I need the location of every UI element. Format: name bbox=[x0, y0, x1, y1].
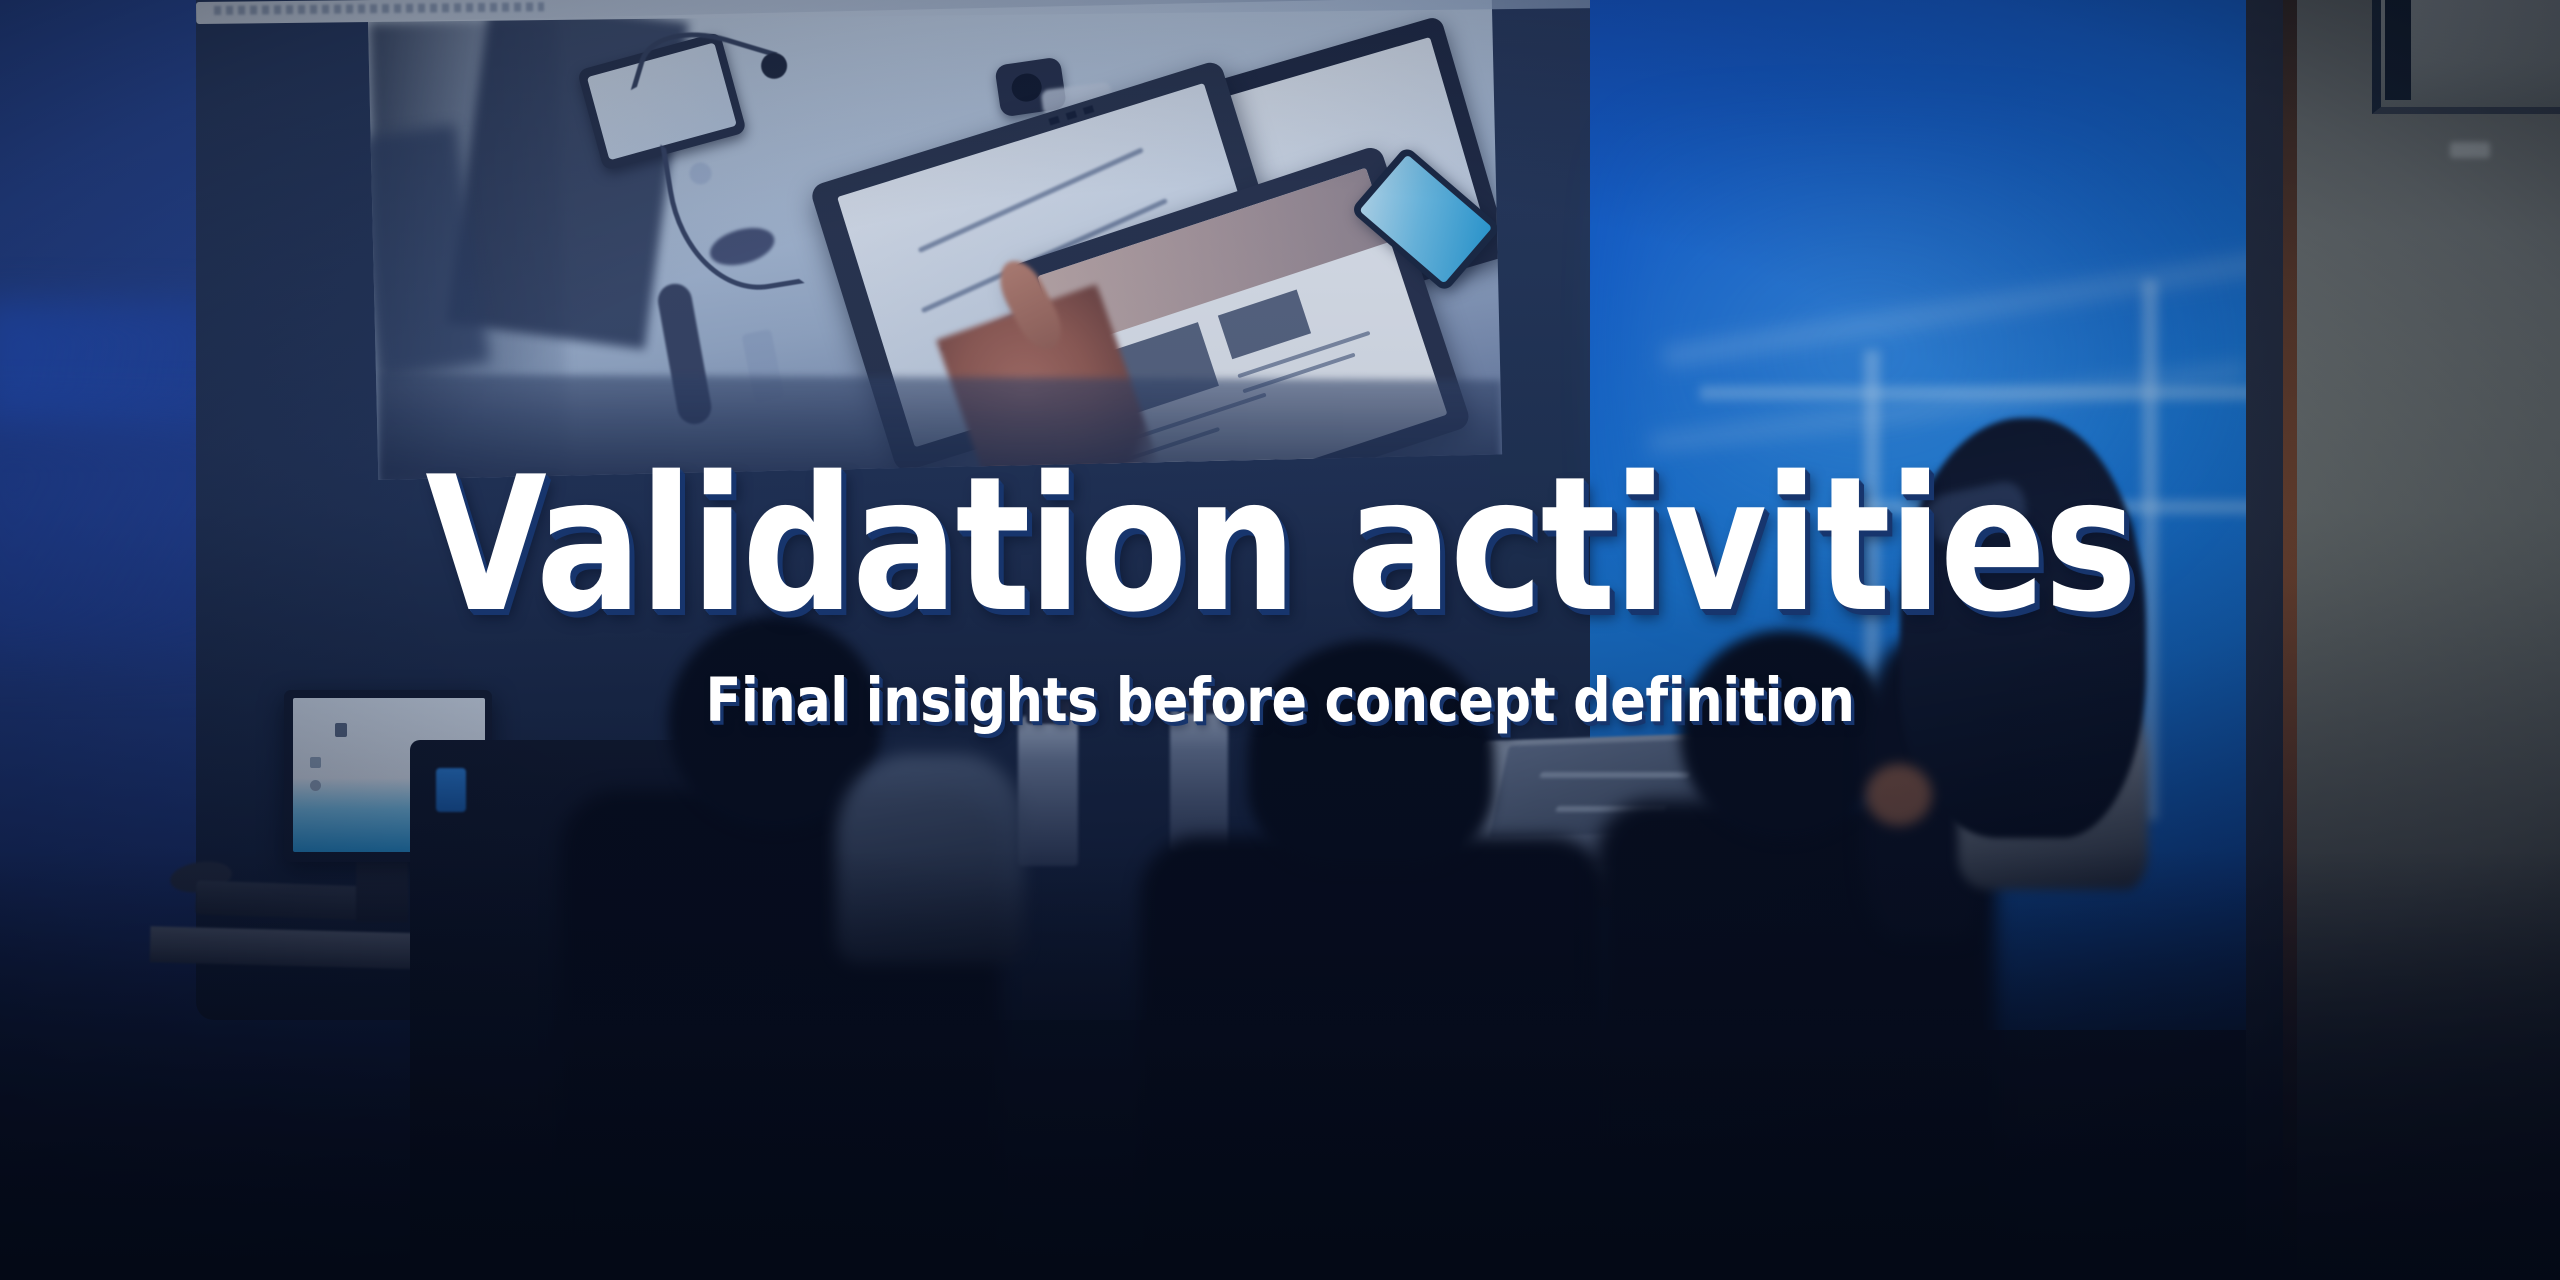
person-silhouette-center-head bbox=[1248, 640, 1494, 870]
water-bottle-left bbox=[1018, 716, 1078, 866]
left-desk-surface bbox=[150, 926, 441, 970]
room-photo-background bbox=[0, 0, 2560, 1280]
standing-person-hair bbox=[1900, 418, 2146, 838]
water-bottle-left-cap bbox=[1026, 700, 1070, 724]
laptop-screen-row-1 bbox=[1539, 772, 1690, 778]
title-slide: Validation activities Final insights bef… bbox=[0, 0, 2560, 1280]
person-silhouette-right-head bbox=[1680, 630, 1890, 840]
water-bottle-right-cap bbox=[1178, 690, 1220, 714]
photo-cable-plug bbox=[761, 53, 788, 80]
far-wall bbox=[2297, 0, 2560, 1280]
photo-cable-lower bbox=[660, 125, 804, 302]
projected-desk-photo bbox=[368, 0, 1502, 480]
person-silhouette-center-body bbox=[1140, 836, 1610, 1280]
wall-frame-inner-panel bbox=[2385, 0, 2411, 100]
person-silhouette-left-shirt bbox=[836, 754, 1024, 964]
monitor-stand bbox=[356, 862, 408, 922]
wall-switch bbox=[2450, 142, 2490, 158]
right-display-grid-horizontal-1 bbox=[1700, 386, 2260, 400]
foreground-panel-indicator bbox=[436, 768, 466, 812]
door-frame-edge bbox=[2283, 0, 2297, 1280]
standing-person-hand bbox=[1866, 764, 1932, 826]
water-bottle-right bbox=[1170, 706, 1228, 852]
